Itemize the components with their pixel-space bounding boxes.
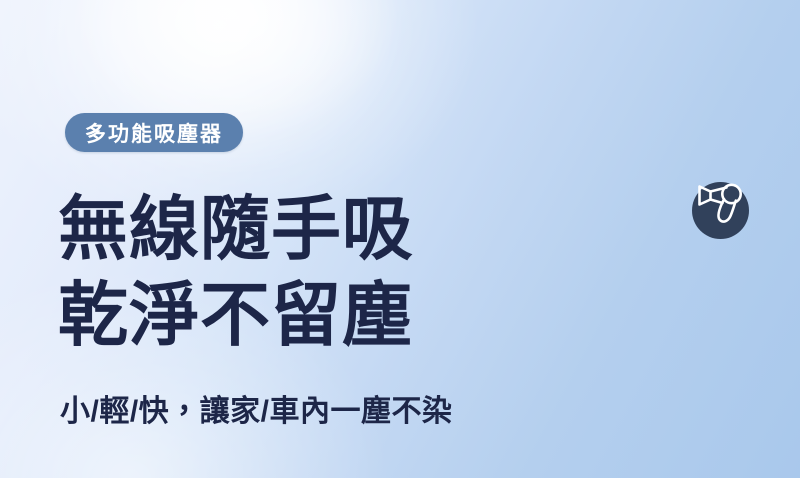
banner-content: 多功能吸塵器 無線隨手吸 乾淨不留塵 小/輕/快，讓家/車內一塵不染 <box>58 0 678 478</box>
headline: 無線隨手吸 乾淨不留塵 <box>58 186 413 358</box>
category-badge: 多功能吸塵器 <box>65 113 243 152</box>
product-icon-circle <box>692 182 749 239</box>
promo-banner: 多功能吸塵器 無線隨手吸 乾淨不留塵 小/輕/快，讓家/車內一塵不染 <box>0 0 800 478</box>
subtitle: 小/輕/快，讓家/車內一塵不染 <box>60 386 453 430</box>
headline-line-2: 乾淨不留塵 <box>58 272 413 358</box>
headline-line-1: 無線隨手吸 <box>58 186 413 272</box>
